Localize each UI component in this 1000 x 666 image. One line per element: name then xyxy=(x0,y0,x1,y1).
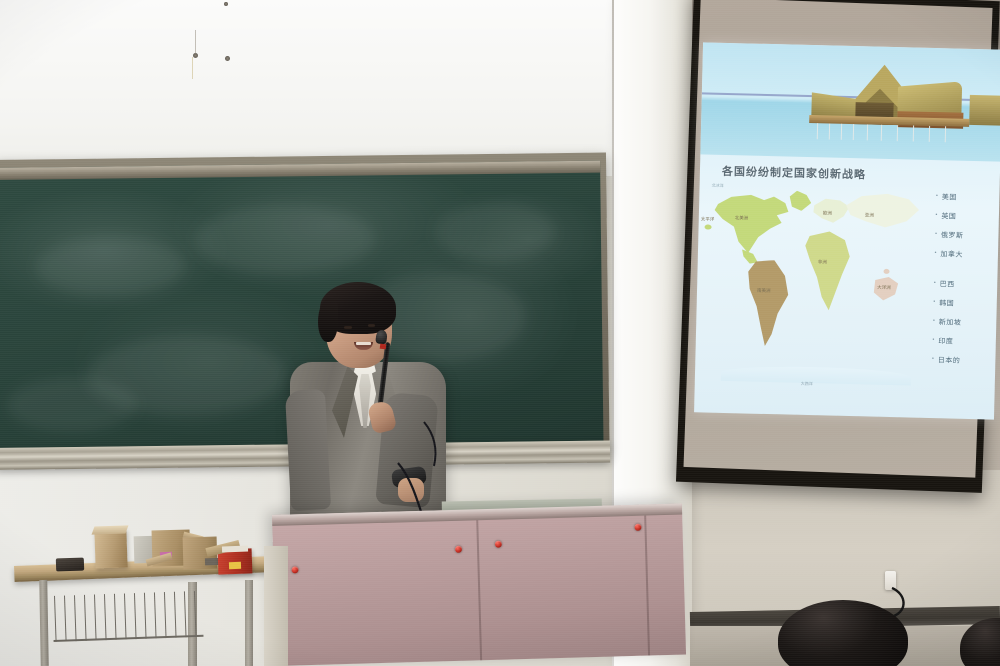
microphone-band xyxy=(380,344,387,350)
chalk-smudge xyxy=(86,334,287,416)
continent-label: 南美洲 xyxy=(757,288,771,294)
bullet-item: •新加坡 xyxy=(932,317,1000,329)
bullet-label: 俄罗斯 xyxy=(941,231,964,240)
bullet-item: •韩国 xyxy=(933,298,1000,310)
lectern-panel-seam xyxy=(476,520,481,660)
bullet-dot-icon: • xyxy=(935,212,939,218)
lectern-knob[interactable] xyxy=(291,566,298,573)
microphone-head-icon[interactable] xyxy=(375,329,388,344)
bullet-label: 巴西 xyxy=(940,280,955,288)
bullet-label: 新加坡 xyxy=(939,318,962,327)
continent-label: 非洲 xyxy=(818,259,827,265)
bullet-dot-icon: • xyxy=(931,356,935,362)
chalk-smudge xyxy=(35,236,186,298)
teeth xyxy=(356,342,371,345)
bullet-item: •日本的 xyxy=(931,355,1000,367)
box-flap xyxy=(92,525,129,534)
lectern-knob[interactable] xyxy=(634,524,641,531)
continent-asia xyxy=(842,192,919,242)
desk-item-small-dark-box[interactable] xyxy=(56,558,84,572)
slide-photo xyxy=(700,42,1000,161)
continent-central-america xyxy=(742,249,758,263)
deck-stilt xyxy=(945,126,946,142)
lectern-knob[interactable] xyxy=(495,541,502,548)
lectern-panel-seam xyxy=(644,516,649,656)
eye-left xyxy=(344,326,352,329)
bullet-label: 美国 xyxy=(942,193,957,201)
deck-stilt xyxy=(853,124,854,140)
hook-wire xyxy=(192,57,193,79)
bullet-item: •俄罗斯 xyxy=(934,230,1000,242)
eye-right xyxy=(368,324,375,327)
hook-wire xyxy=(195,30,196,54)
desk-item-cardboard-box[interactable] xyxy=(94,529,127,568)
bullet-item: •巴西 xyxy=(933,279,1000,291)
deck-stilt xyxy=(841,124,842,140)
desk-item-yellow-mark xyxy=(229,562,241,569)
desk-item-white-label xyxy=(222,546,248,553)
mic-cable xyxy=(420,420,460,470)
bullet-dot-icon: • xyxy=(932,318,936,324)
continent-label: 欧洲 xyxy=(823,210,832,216)
slide-title: 各国纷纷制定国家创新战略 xyxy=(722,163,866,183)
bullet-item: •印度 xyxy=(932,336,1000,348)
bullet-item: •英国 xyxy=(935,211,1000,223)
hair-side xyxy=(318,298,338,342)
wall-hook-icon xyxy=(224,2,228,6)
bullet-dot-icon: • xyxy=(933,280,937,286)
deck-stilt xyxy=(929,126,930,142)
bullet-dot-icon: • xyxy=(932,337,936,343)
continent-north-america xyxy=(712,193,795,257)
deck-stilt xyxy=(881,125,882,141)
bullet-dot-icon: • xyxy=(933,299,937,305)
bullet-label: 加拿大 xyxy=(940,250,963,259)
continent-south-america xyxy=(744,259,792,346)
deck-stilt xyxy=(867,124,868,140)
presentation-slide: 各国纷纷制定国家创新战略 北冰洋 北美洲 太平洋 南美洲 欧洲 亚洲 xyxy=(694,42,1000,419)
bullet-dot-icon: • xyxy=(935,193,939,199)
continent-label: 亚洲 xyxy=(865,212,874,218)
chalk-smudge xyxy=(195,203,376,275)
bullet-item: •美国 xyxy=(935,192,1000,204)
slide-bullet-list: •美国 •英国 •俄罗斯 •加拿大 •巴西 •韩国 •新加坡 •印度 •日本的 xyxy=(931,192,1000,376)
projection-screen: 各国纷纷制定国家创新战略 北冰洋 北美洲 太平洋 南美洲 欧洲 亚洲 xyxy=(676,0,1000,501)
bullet-label: 日本的 xyxy=(938,356,961,365)
continent-label: 大洋洲 xyxy=(877,285,891,291)
bungalow-far xyxy=(969,95,1000,126)
deck-stilt xyxy=(829,123,830,139)
desk-wire-basket xyxy=(52,591,206,648)
arm-left xyxy=(285,389,331,511)
photo-scene: 各国纷纷制定国家创新战略 北冰洋 北美洲 太平洋 南美洲 欧洲 亚洲 xyxy=(0,0,1000,666)
wall-hook-icon xyxy=(225,56,230,61)
desk-leg xyxy=(245,580,253,666)
bullet-label: 印度 xyxy=(938,337,953,345)
bullet-item: •加拿大 xyxy=(934,249,1000,261)
continent-greenland xyxy=(787,190,811,211)
upper-wall xyxy=(0,0,622,176)
island xyxy=(705,224,712,229)
bullet-dot-icon: • xyxy=(934,231,938,237)
island xyxy=(883,269,889,274)
continent-label: 北美洲 xyxy=(735,215,749,221)
deck-stilt xyxy=(913,126,914,142)
lectern xyxy=(272,504,686,666)
chalkboard-rail xyxy=(0,161,600,180)
lectern-knob[interactable] xyxy=(455,546,462,553)
world-map: 北冰洋 北美洲 太平洋 南美洲 欧洲 亚洲 非洲 xyxy=(695,180,932,398)
deck-stilt xyxy=(897,125,898,141)
antarctica xyxy=(721,365,911,386)
cabinet-edge xyxy=(264,546,288,666)
bullet-dot-icon: • xyxy=(934,250,938,256)
continent-africa xyxy=(801,231,855,314)
ocean-label-atlantic: 大西洋 xyxy=(801,381,813,387)
chalk-smudge xyxy=(7,376,138,433)
chalk-smudge xyxy=(435,201,556,262)
ocean-label-pacific: 太平洋 xyxy=(701,216,715,222)
desk-leg xyxy=(39,580,48,666)
bullet-label: 英国 xyxy=(941,212,956,220)
bullet-label: 韩国 xyxy=(939,299,954,307)
deck-stilt xyxy=(817,123,818,139)
ocean-label: 北冰洋 xyxy=(712,183,724,189)
